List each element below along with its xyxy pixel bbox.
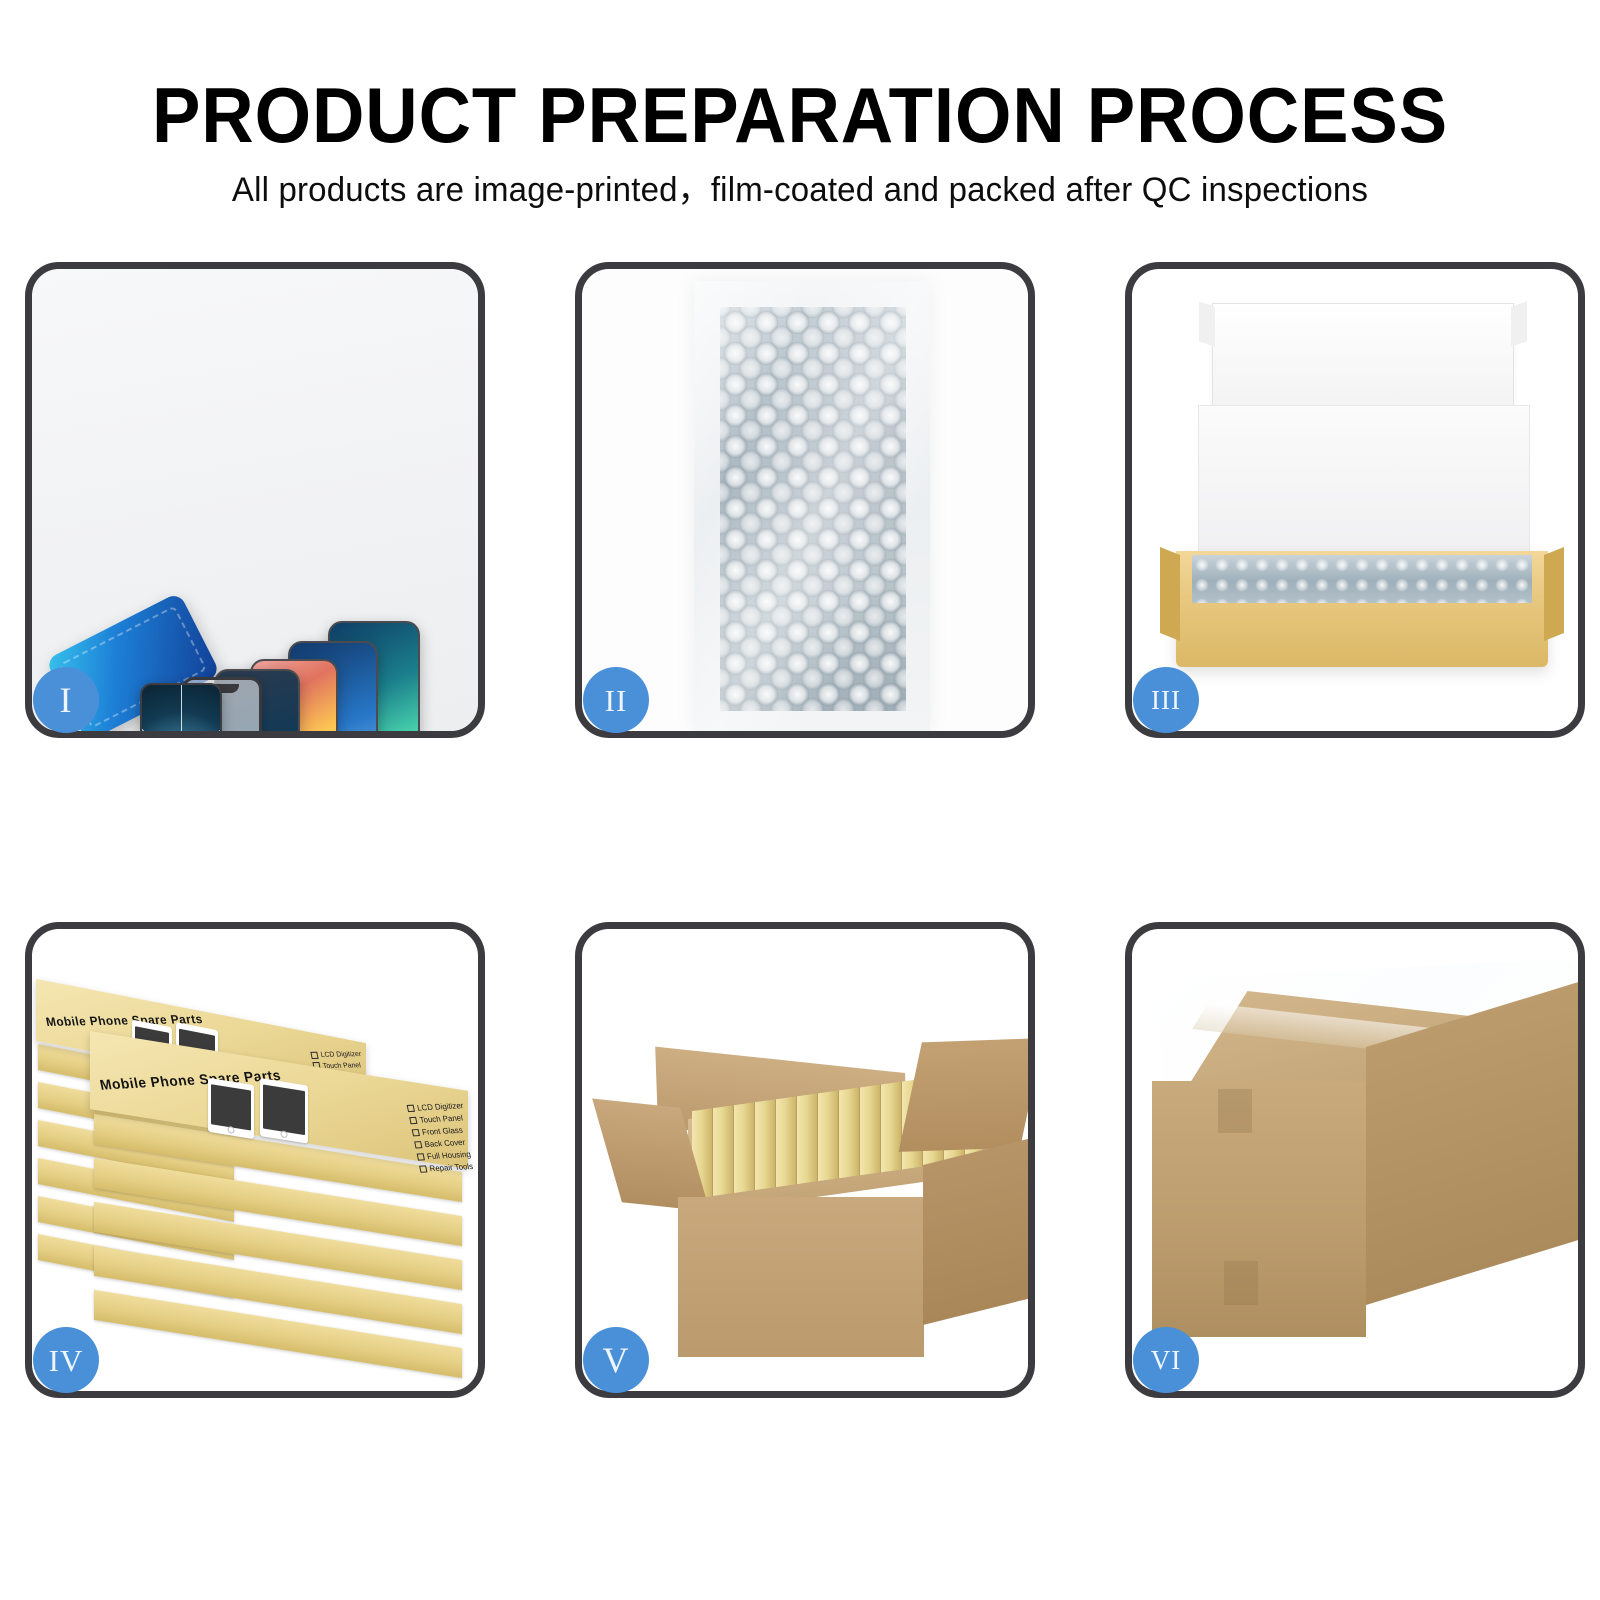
phone-photo-3 bbox=[208, 1078, 254, 1139]
step-5-frame bbox=[575, 922, 1035, 1398]
carton-side-face bbox=[923, 1138, 1028, 1325]
step-3-frame bbox=[1125, 262, 1585, 738]
step-6-numeral: VI bbox=[1151, 1347, 1182, 1374]
process-step-5: V bbox=[575, 922, 1035, 1398]
mailer-back-wall bbox=[1198, 405, 1530, 557]
step-1-frame bbox=[25, 262, 485, 738]
tape-tab-lower bbox=[1224, 1261, 1258, 1305]
open-mailer-box-image bbox=[1132, 269, 1578, 731]
step-5-numeral: V bbox=[603, 1342, 630, 1378]
step-6-badge: VI bbox=[1133, 1327, 1199, 1393]
carton-front-face bbox=[678, 1197, 924, 1357]
step-3-numeral: III bbox=[1151, 687, 1181, 714]
checklist-item: LCD Digitizer bbox=[310, 1050, 362, 1062]
process-step-2: II bbox=[575, 262, 1035, 738]
step-4-numeral: IV bbox=[49, 1345, 84, 1376]
bubble-grid-icon bbox=[1192, 555, 1532, 603]
mailer-lid bbox=[1212, 303, 1514, 408]
step-2-frame bbox=[575, 262, 1035, 738]
process-step-6: VI bbox=[1125, 922, 1585, 1398]
process-step-4: Mobile Phone Spare Parts LCD Digitizer T… bbox=[25, 922, 485, 1398]
plastic-sheen bbox=[694, 281, 930, 731]
process-step-1: I bbox=[25, 262, 485, 738]
mailer-tray bbox=[1176, 551, 1548, 667]
step-1-badge: I bbox=[33, 667, 99, 733]
step-4-frame: Mobile Phone Spare Parts LCD Digitizer T… bbox=[25, 922, 485, 1398]
process-step-3: III bbox=[1125, 262, 1585, 738]
bubble-wrapped-item-image bbox=[582, 269, 1028, 731]
page-header: PRODUCT PREPARATION PROCESS All products… bbox=[0, 0, 1600, 209]
phone-photo-4 bbox=[260, 1078, 308, 1144]
carton-front-face bbox=[1152, 1081, 1366, 1337]
retail-box-brand-front: Mobile Phone Spare Parts bbox=[98, 1067, 282, 1093]
step-4-badge: IV bbox=[33, 1327, 99, 1393]
step-2-numeral: II bbox=[605, 685, 628, 716]
stacked-retail-boxes-image: Mobile Phone Spare Parts LCD Digitizer T… bbox=[32, 929, 478, 1391]
cracked-screen-icon bbox=[140, 683, 222, 731]
phone-parts-assortment-image bbox=[32, 269, 478, 731]
bubble-wrapped-contents bbox=[1192, 555, 1532, 603]
process-step-grid: I II bbox=[0, 262, 1600, 1492]
open-shipping-carton-image bbox=[582, 929, 1028, 1391]
carton-right-flap bbox=[899, 1038, 1028, 1152]
step-3-badge: III bbox=[1133, 667, 1199, 733]
step-1-numeral: I bbox=[60, 682, 73, 718]
bubble-wrap-pouch bbox=[694, 281, 930, 731]
step-2-badge: II bbox=[583, 667, 649, 733]
page-subtitle: All products are image-printed，film-coat… bbox=[24, 172, 1576, 209]
step-6-frame bbox=[1125, 922, 1585, 1398]
page-title: PRODUCT PREPARATION PROCESS bbox=[56, 78, 1544, 152]
sealed-shipping-carton-image bbox=[1132, 929, 1578, 1391]
tape-tab-upper bbox=[1218, 1089, 1252, 1133]
step-5-badge: V bbox=[583, 1327, 649, 1393]
